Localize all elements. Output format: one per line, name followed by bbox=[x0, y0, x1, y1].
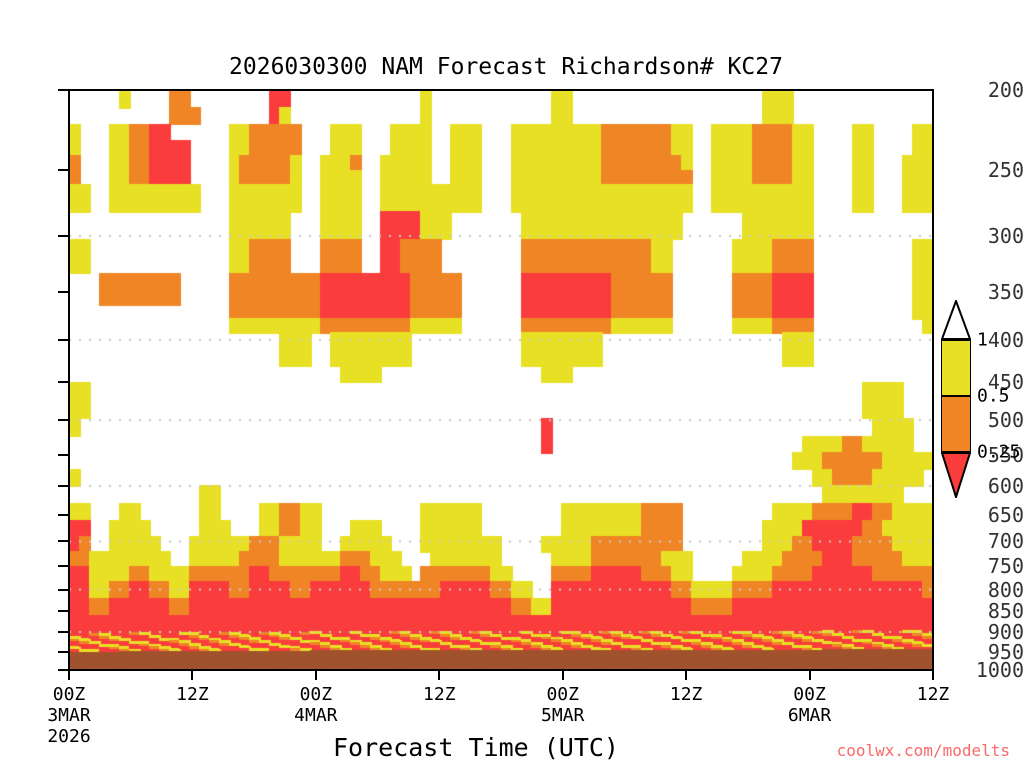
y-tick-label: 500 bbox=[962, 408, 1024, 432]
y-tick-label: 200 bbox=[962, 78, 1024, 102]
colorbar-tick-label: 0.5 bbox=[977, 386, 1010, 407]
y-tick-mark bbox=[58, 169, 69, 171]
x-tick-mark bbox=[932, 671, 934, 680]
x-axis-title-text: Forecast Time (UTC) bbox=[333, 733, 619, 762]
chart-title-text: 2026030300 NAM Forecast Richardson# KC27 bbox=[229, 54, 783, 80]
y-tick-label: 700 bbox=[962, 529, 1024, 553]
chart-page: 2026030300 NAM Forecast Richardson# KC27… bbox=[0, 0, 1024, 768]
colorbar-over-arrow bbox=[941, 300, 971, 340]
x-tick-date-label: 6MAR bbox=[788, 705, 831, 726]
y-tick-label: 350 bbox=[962, 280, 1024, 304]
x-tick-date-label: 4MAR bbox=[294, 705, 337, 726]
colorbar-under-arrow bbox=[941, 452, 971, 498]
y-tick-mark bbox=[58, 339, 69, 341]
y-tick-label: 750 bbox=[962, 554, 1024, 578]
x-tick-mark bbox=[191, 671, 193, 680]
y-tick-label: 250 bbox=[962, 158, 1024, 182]
colorbar-segment bbox=[941, 340, 971, 396]
y-tick-label: 800 bbox=[962, 578, 1024, 602]
y-tick-mark bbox=[58, 419, 69, 421]
y-tick-mark bbox=[58, 631, 69, 633]
x-tick-label: 12Z bbox=[423, 684, 456, 705]
colorbar-segment bbox=[941, 396, 971, 452]
y-tick-mark bbox=[58, 540, 69, 542]
x-tick-mark bbox=[809, 671, 811, 680]
x-tick-label: 12Z bbox=[176, 684, 209, 705]
y-tick-mark bbox=[58, 610, 69, 612]
y-tick-mark bbox=[58, 454, 69, 456]
y-tick-label: 400 bbox=[962, 328, 1024, 352]
x-tick-mark bbox=[68, 671, 70, 680]
y-tick-label: 300 bbox=[962, 224, 1024, 248]
y-tick-mark bbox=[58, 235, 69, 237]
x-tick-mark bbox=[438, 671, 440, 680]
page-title: 2026030300 NAM Forecast Richardson# KC27 bbox=[0, 54, 1024, 80]
x-tick-mark bbox=[685, 671, 687, 680]
y-tick-mark bbox=[58, 291, 69, 293]
y-tick-mark bbox=[58, 485, 69, 487]
x-tick-mark bbox=[562, 671, 564, 680]
y-tick-label: 650 bbox=[962, 503, 1024, 527]
y-tick-label: 600 bbox=[962, 474, 1024, 498]
watermark: coolwx.com/modelts bbox=[837, 741, 1010, 760]
y-tick-mark bbox=[58, 565, 69, 567]
y-tick-mark bbox=[58, 514, 69, 516]
y-tick-mark bbox=[58, 89, 69, 91]
y-tick-mark bbox=[58, 381, 69, 383]
colorbar-tick-label: 1 bbox=[977, 330, 988, 351]
y-tick-mark bbox=[58, 651, 69, 653]
richardson-number-colorbar: 10.50.25 bbox=[941, 300, 971, 470]
colorbar-tick-label: 0.25 bbox=[977, 442, 1020, 463]
x-tick-date-label: 5MAR bbox=[541, 705, 584, 726]
x-tick-mark bbox=[315, 671, 317, 680]
x-tick-label: 00Z bbox=[793, 684, 826, 705]
x-tick-label: 12Z bbox=[670, 684, 703, 705]
x-tick-label: 12Z bbox=[917, 684, 950, 705]
richardson-heatmap-canvas bbox=[69, 90, 933, 670]
x-tick-date-label: 3MAR bbox=[47, 705, 90, 726]
x-tick-label: 00Z bbox=[300, 684, 333, 705]
y-tick-mark bbox=[58, 589, 69, 591]
x-tick-label: 00Z bbox=[546, 684, 579, 705]
y-tick-label: 1000 bbox=[962, 658, 1024, 682]
x-tick-label: 00Z bbox=[53, 684, 86, 705]
plot-area bbox=[69, 90, 933, 670]
